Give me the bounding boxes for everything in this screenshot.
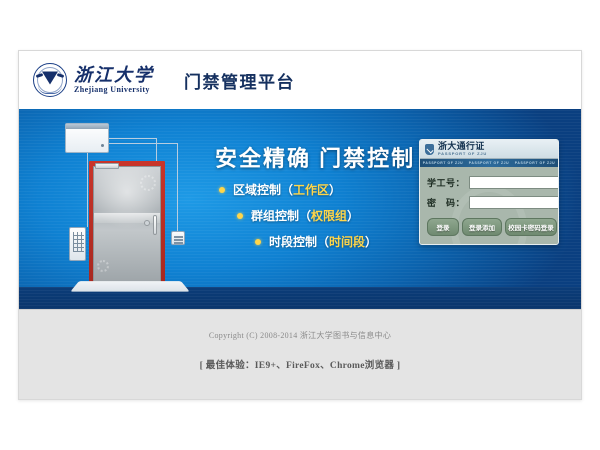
controller-box-lid [66,124,108,129]
card-reader-slots [174,236,183,238]
login-button-row: 登录 登录添加 校园卡密码登录 [427,218,551,236]
site-header: 浙江大学 Zhejiang University 门禁管理平台 [19,51,581,109]
bullet-label: 区域控制（ [233,181,293,198]
login-title: 浙大通行证 [438,142,487,151]
copyright-text: Copyright (C) 2008-2014 浙江大学图书与信息中心 [209,330,391,341]
password-row: 密 码： [427,196,551,209]
bullet-label: 时段控制（ [269,233,329,250]
bullet-accent: 工作区 [293,181,329,198]
login-decorative-strip: PASSPORT OF ZJU PASSPORT OF ZJU PASSPORT… [420,159,558,167]
gear-decoration-top [140,175,156,191]
bullet-accent: 权限组 [311,207,347,224]
login-add-button[interactable]: 登录添加 [462,218,502,236]
wire-horizontal-top [109,138,157,139]
browser-recommendation-text: [ 最佳体验：IE9+、FireFox、Chrome浏览器 ] [200,357,401,371]
wire-horizontal-lower [109,143,178,144]
keypad-reader [69,227,86,261]
login-subtitle: PASSPORT OF ZJU [438,152,487,156]
strip-word: PASSPORT OF ZJU [423,161,463,165]
bullet-tail: ） [347,207,359,224]
university-name-cn: 浙江大学 [74,66,154,85]
login-button[interactable]: 登录 [427,218,459,236]
login-form: 学工号： 密 码： 登录 登录添加 校园卡密码登录 [420,167,558,244]
bullet-accent: 时间段 [329,233,365,250]
site-footer: Copyright (C) 2008-2014 浙江大学图书与信息中心 [ 最佳… [19,309,581,400]
strip-word: PASSPORT OF ZJU [469,161,509,165]
bullet-label: 群组控制（ [251,207,311,224]
shield-check-icon [425,144,434,155]
door-highlight-band [94,213,160,223]
floor-plate [70,281,189,291]
bullet-tail: ） [329,181,341,198]
list-item: 群组控制（权限组） [237,207,377,224]
page-container: 浙江大学 Zhejiang University 门禁管理平台 [18,50,582,400]
login-panel-header: 浙大通行证 PASSPORT OF ZJU [420,140,558,159]
access-control-door-illustration [47,119,207,301]
crest-bird [42,72,58,85]
wire-vertical-reader [177,143,178,231]
bullet-dot-icon [255,239,261,245]
login-panel: 浙大通行证 PASSPORT OF ZJU PASSPORT OF ZJU PA… [419,139,559,245]
list-item: 时段控制（时间段） [255,233,377,250]
door-knob [144,220,150,226]
door-closer [95,163,119,169]
list-item: 区域控制（工作区） [219,181,377,198]
gear-decoration-bottom [97,260,109,272]
staff-id-row: 学工号： [427,176,551,189]
banner-headline: 安全精确 门禁控制 [215,141,415,173]
wire-vertical-keypad [87,153,88,227]
staff-id-label: 学工号： [427,176,465,189]
door-leaf [93,166,161,283]
password-label: 密 码： [427,196,465,209]
bullet-dot-icon [219,187,225,193]
campus-card-login-button[interactable]: 校园卡密码登录 [505,218,557,236]
bullet-dot-icon [237,213,243,219]
keypad-buttons [73,232,84,252]
login-title-group: 浙大通行证 PASSPORT OF ZJU [438,142,487,156]
bullet-tail: ） [365,233,377,250]
card-reader [171,231,185,245]
banner-feature-list: 区域控制（工作区） 群组控制（权限组） 时段控制（时间段） [219,181,377,259]
university-name-en: Zhejiang University [74,85,154,95]
password-field[interactable] [469,196,559,209]
strip-word: PASSPORT OF ZJU [515,161,555,165]
door-handle [153,215,157,235]
controller-box [65,123,109,153]
zju-crest-icon [33,63,67,97]
staff-id-field[interactable] [469,176,559,189]
page-title: 门禁管理平台 [184,68,295,93]
controller-box-indicator [101,144,104,147]
crest-arc [38,85,62,94]
hero-banner: 安全精确 门禁控制 区域控制（工作区） 群组控制（权限组） 时段控制（时间段） … [19,109,581,309]
university-wordmark: 浙江大学 Zhejiang University [74,66,154,94]
